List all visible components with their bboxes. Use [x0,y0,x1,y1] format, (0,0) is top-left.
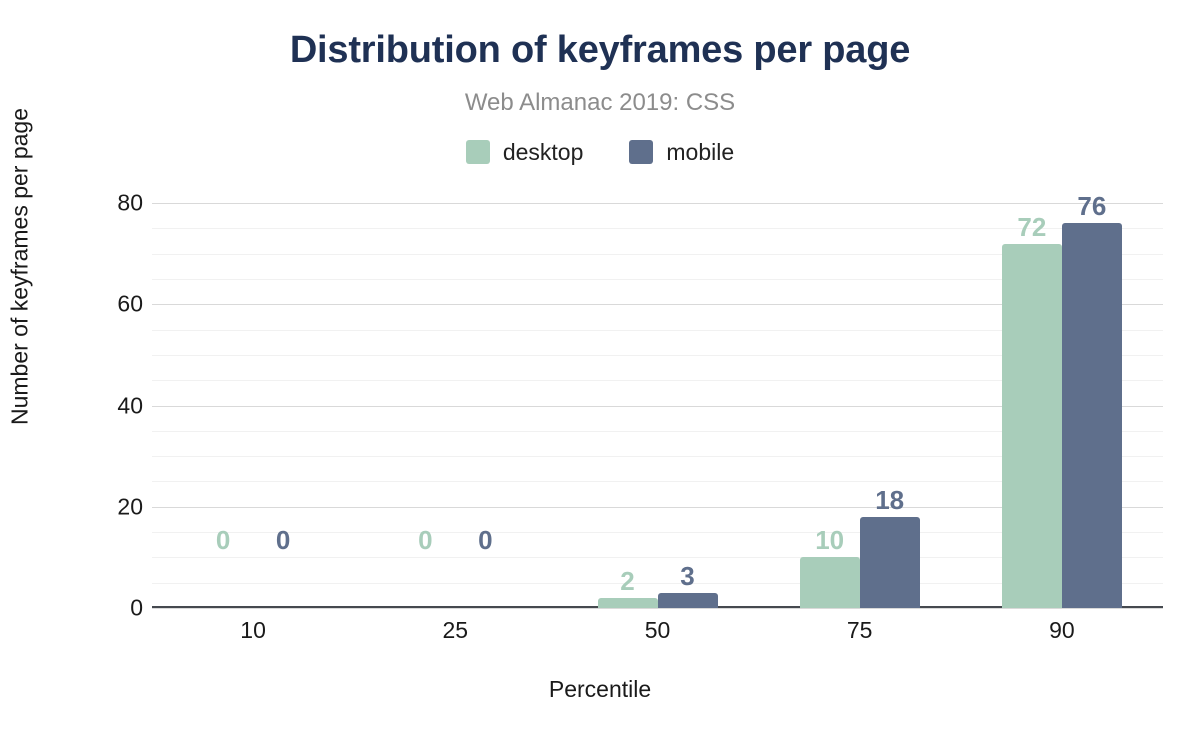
bar-value-label-desktop-75: 10 [770,525,890,556]
y-axis-tick-label: 60 [23,291,143,318]
chart-container: Distribution of keyframes per page Web A… [0,0,1200,742]
bar-value-label-mobile-25: 0 [425,525,545,556]
y-axis-tick-label: 80 [23,190,143,217]
y-axis-tick-label: 0 [23,595,143,622]
bar-mobile-90[interactable] [1062,223,1122,608]
x-axis-tick-label: 25 [375,617,535,644]
bar-value-label-mobile-75: 18 [830,485,950,516]
bar-value-label-mobile-50: 3 [628,561,748,592]
bar-value-label-mobile-90: 76 [1032,191,1152,222]
legend-label-desktop: desktop [503,141,584,164]
y-axis-tick-label: 40 [23,392,143,419]
gridline-major [152,608,1163,609]
bar-desktop-50[interactable] [598,598,658,608]
legend-swatch-desktop [466,140,490,164]
legend-label-mobile: mobile [666,141,734,164]
x-axis-tick-label: 90 [982,617,1142,644]
legend-item-mobile[interactable]: mobile [629,140,734,164]
x-axis-tick-label: 75 [780,617,940,644]
bar-desktop-75[interactable] [800,557,860,608]
x-axis-tick-label: 50 [578,617,738,644]
x-axis-tick-label: 10 [173,617,333,644]
y-axis-tick-label: 20 [23,493,143,520]
bar-value-label-mobile-10: 0 [223,525,343,556]
chart-subtitle: Web Almanac 2019: CSS [0,90,1200,116]
gridline-major [152,203,1163,204]
chart-title: Distribution of keyframes per page [0,30,1200,72]
legend-item-desktop[interactable]: desktop [466,140,584,164]
chart-legend: desktop mobile [0,140,1200,164]
x-axis-title: Percentile [0,676,1200,703]
bar-desktop-90[interactable] [1002,244,1062,609]
legend-swatch-mobile [629,140,653,164]
